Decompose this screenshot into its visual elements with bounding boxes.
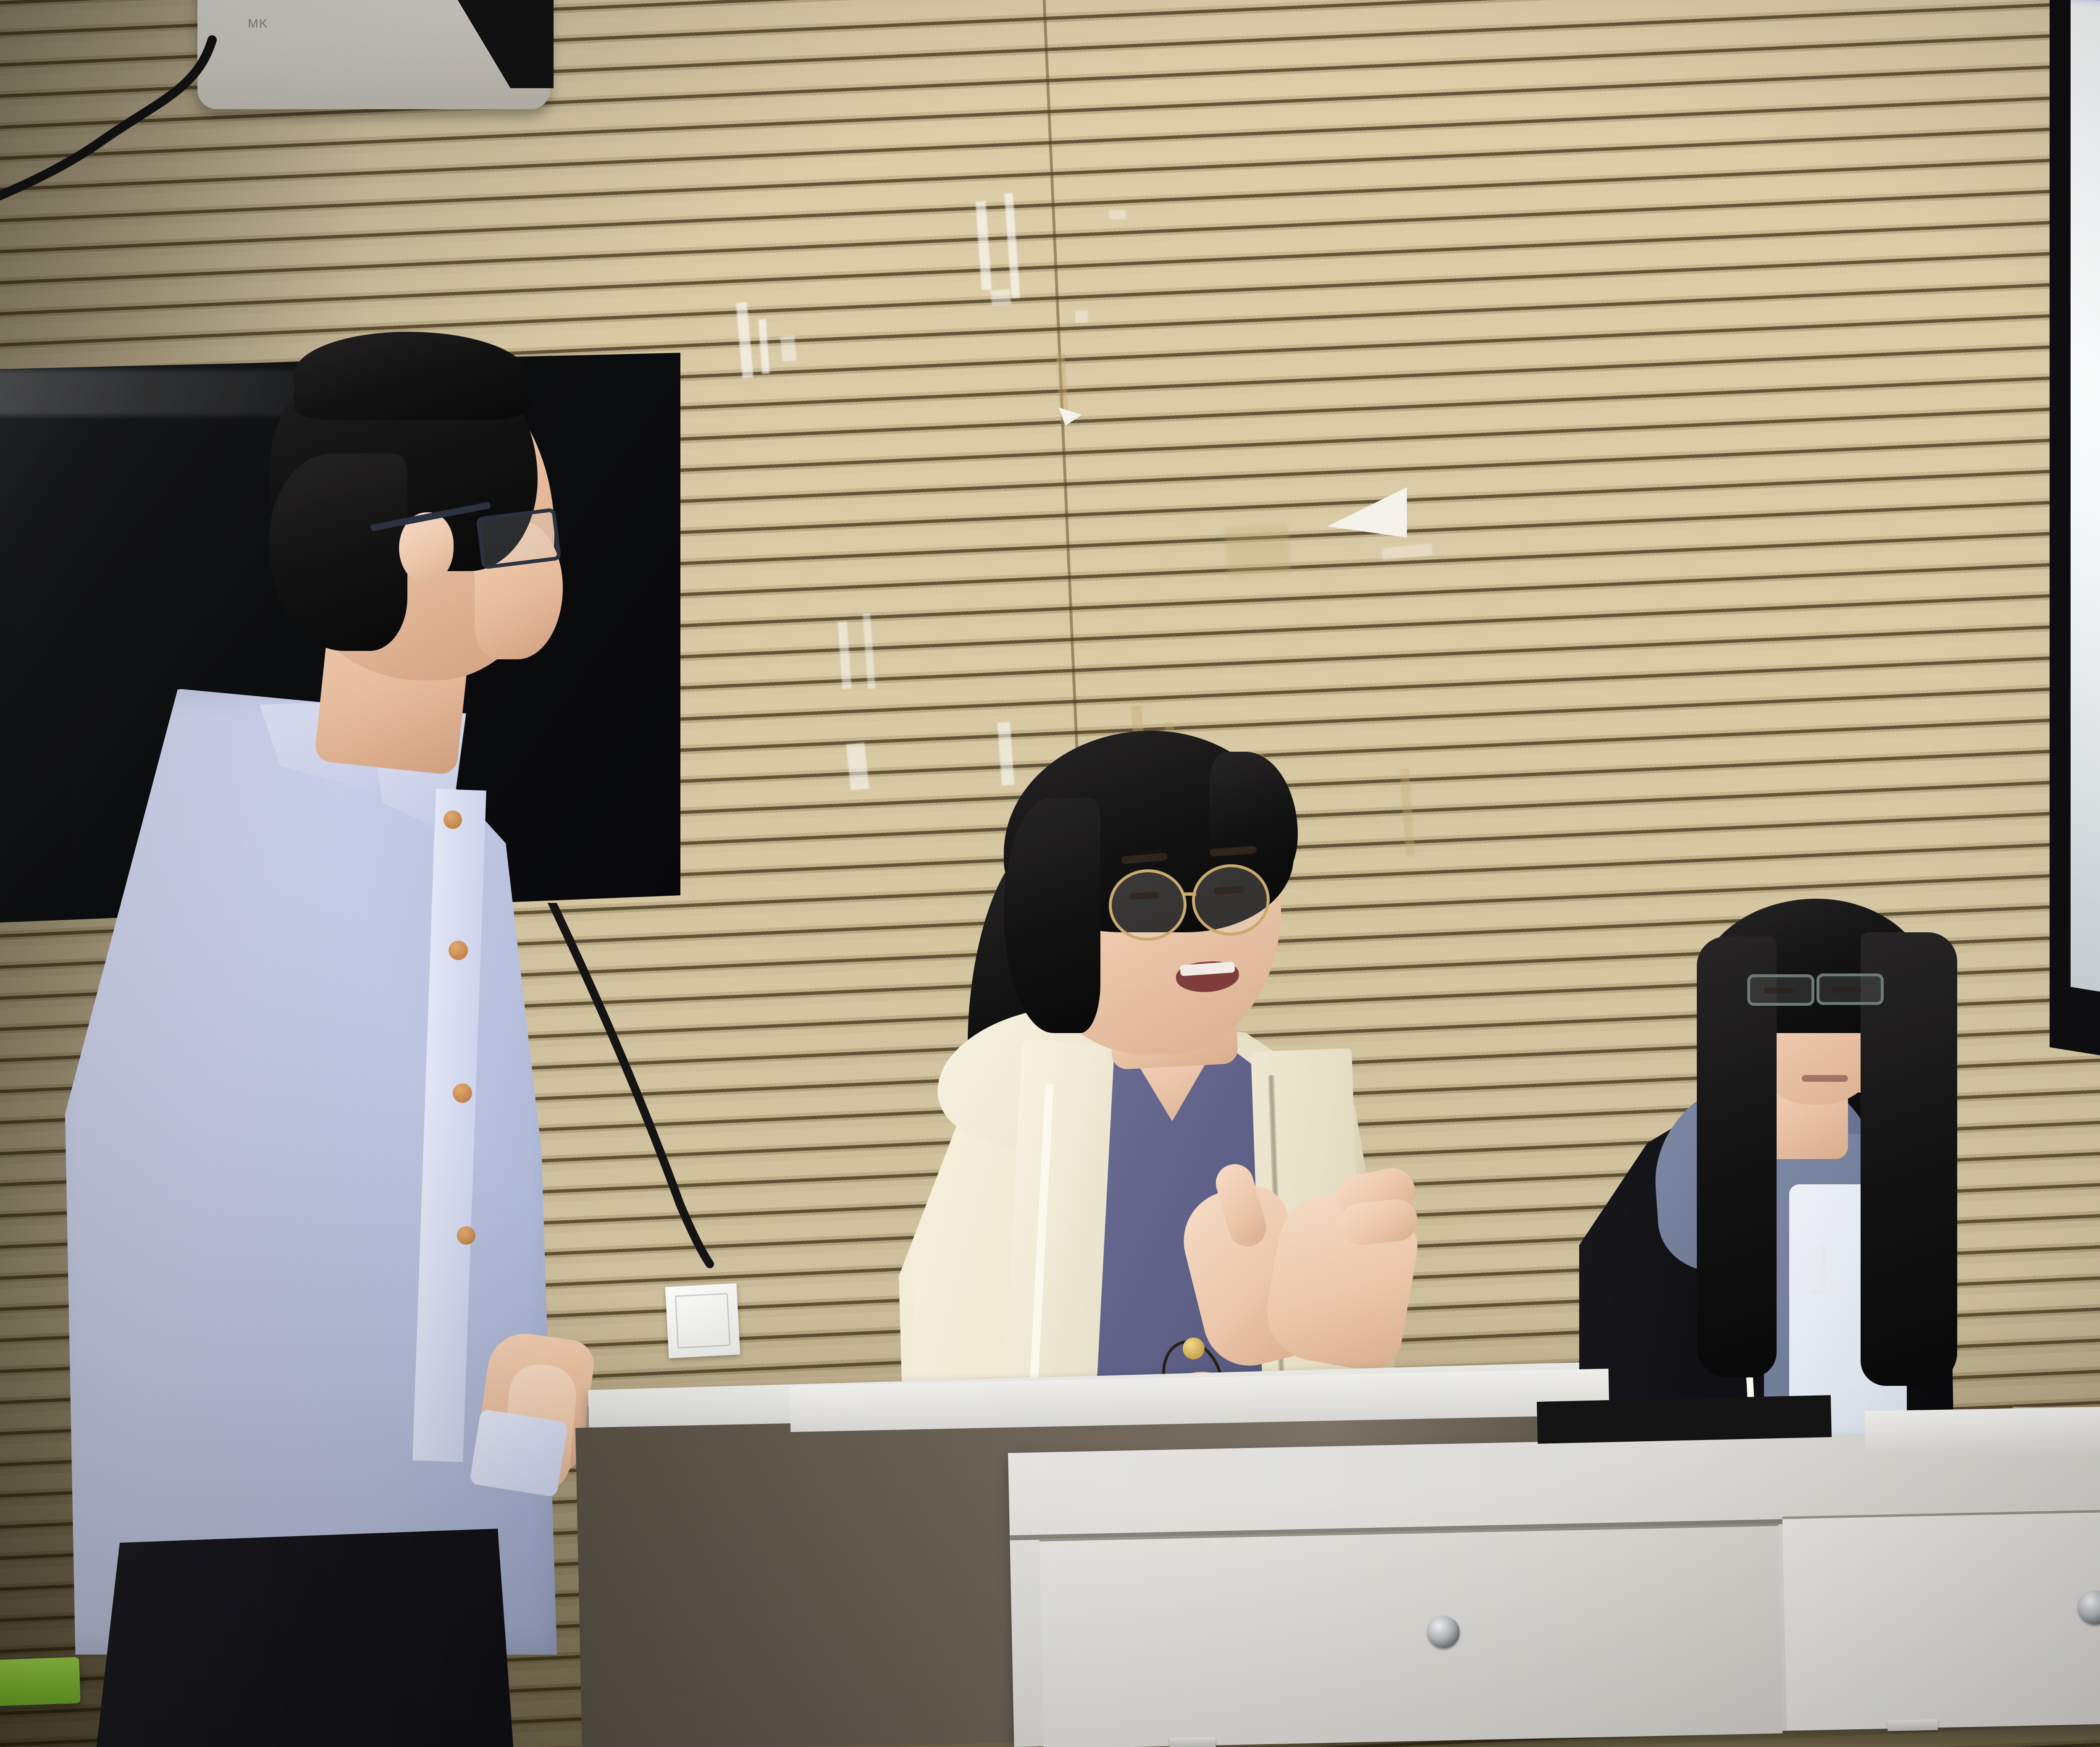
person-right-eye bbox=[1764, 988, 1793, 994]
slide-title-bar bbox=[2071, 0, 2100, 50]
cabinet-door-right[interactable] bbox=[1782, 1504, 2100, 1731]
screen-glare bbox=[2071, 0, 2100, 1100]
person-left-cuff bbox=[469, 1409, 568, 1498]
person-left-hair-top bbox=[294, 332, 529, 420]
cabinet-door-left[interactable] bbox=[1039, 1524, 1782, 1747]
glasses-bridge bbox=[1184, 892, 1196, 896]
cabinet-lock[interactable] bbox=[2078, 1590, 2100, 1625]
cabinet-lock[interactable] bbox=[1427, 1616, 1460, 1649]
shirt-button bbox=[457, 1226, 475, 1245]
speaker-cable bbox=[0, 0, 588, 336]
wall-outlet-inner bbox=[675, 1293, 730, 1348]
necklace-pendant bbox=[1811, 1289, 1835, 1294]
shirt-button bbox=[444, 811, 462, 829]
slide-title: 以党政思想培育和村风改善避免圈子 bbox=[2074, 0, 2100, 44]
wall-outlet[interactable] bbox=[665, 1283, 740, 1359]
glasses-lens bbox=[476, 508, 562, 569]
green-chair-back[interactable] bbox=[0, 1657, 81, 1707]
person-right-eye bbox=[1831, 987, 1861, 993]
shirt-button bbox=[453, 1083, 472, 1103]
person-center-hair-side bbox=[1004, 798, 1100, 1033]
storage-cabinet[interactable]: grey metal storage cabinet bbox=[1008, 1424, 2100, 1747]
bracelet-bead bbox=[1183, 1338, 1205, 1359]
cabinet-drawer-handle[interactable] bbox=[1887, 1719, 1938, 1731]
person-right-mouth bbox=[1802, 1075, 1848, 1082]
cabinet-drawer-handle[interactable] bbox=[1169, 1737, 1216, 1747]
person-left-trousers bbox=[94, 1529, 514, 1747]
projection-screen[interactable]: 以党政思想培育和村风改善避免圈子 党政思想培育 bbox=[2071, 0, 2100, 1100]
shirt-button bbox=[449, 941, 468, 960]
necklace-chain bbox=[1821, 1243, 1825, 1293]
desk-shadow-gap bbox=[1537, 1395, 1832, 1444]
classroom-photo-scene: MK wall-mounted flat panel display 以党政思想… bbox=[0, 0, 2100, 1747]
